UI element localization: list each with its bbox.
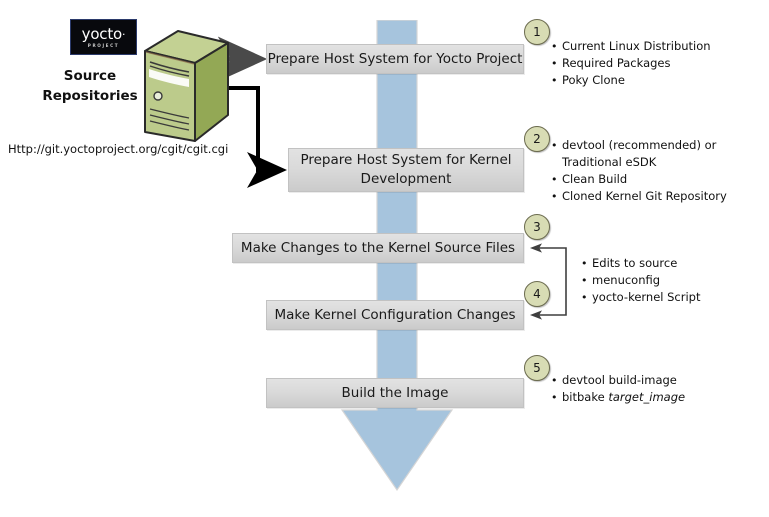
bullet-item: menuconfig <box>580 272 760 289</box>
step-number-badge-2: 2 <box>524 126 550 152</box>
bullet-italic-arg: target_image <box>608 390 685 404</box>
step-number-text: 1 <box>533 25 541 39</box>
step-box-label: Make Changes to the Kernel Source Files <box>241 239 515 258</box>
step-1-bullet-list: Current Linux Distribution Required Pack… <box>550 38 760 89</box>
step-box-label: Prepare Host System for Yocto Project <box>268 50 523 69</box>
step-number-badge-1: 1 <box>524 19 550 45</box>
source-label-line1: Source <box>34 66 146 86</box>
step-number-text: 3 <box>533 220 541 234</box>
step-box-label: Make Kernel Configuration Changes <box>274 306 515 325</box>
bullet-item: Required Packages <box>550 55 760 72</box>
bullet-item: Cloned Kernel Git Repository <box>550 188 750 205</box>
source-repository-url[interactable]: Http://git.yoctoproject.org/cgit/cgit.cg… <box>8 142 228 156</box>
step-box-make-kernel-config-changes[interactable]: Make Kernel Configuration Changes <box>266 300 524 330</box>
bullet-item: devtool build-image <box>550 372 750 389</box>
steps-3-4-shared-bullet-list: Edits to source menuconfig yocto-kernel … <box>580 255 760 306</box>
step-2-bullet-list: devtool (recommended) or Traditional eSD… <box>550 137 750 205</box>
step-box-make-changes-kernel-source[interactable]: Make Changes to the Kernel Source Files <box>232 233 524 263</box>
step-number-badge-4: 4 <box>524 281 550 307</box>
logo-dot: · <box>122 28 125 41</box>
bullet-text: bitbake <box>562 390 608 404</box>
diagram-canvas: yocto· PROJECT Source Repositories Http:… <box>0 0 769 517</box>
workflow-flow-arrow <box>340 20 460 510</box>
bullet-item: Clean Build <box>550 171 750 188</box>
logo-subtitle: PROJECT <box>88 43 119 49</box>
server-tower-icon <box>131 29 236 149</box>
step-number-badge-3: 3 <box>524 214 550 240</box>
bullet-item: Edits to source <box>580 255 760 272</box>
bullet-item: yocto-kernel Script <box>580 289 760 306</box>
bullet-item: Current Linux Distribution <box>550 38 760 55</box>
step-number-badge-5: 5 <box>524 355 550 381</box>
step-box-build-the-image[interactable]: Build the Image <box>266 378 524 408</box>
source-label-line2: Repositories <box>34 86 146 106</box>
step-number-text: 2 <box>533 132 541 146</box>
yocto-project-logo: yocto· PROJECT <box>70 19 137 55</box>
bullet-item: bitbake target_image <box>550 389 750 406</box>
bullet-item: Poky Clone <box>550 72 760 89</box>
step-number-text: 4 <box>533 287 541 301</box>
step-box-prepare-host-yocto[interactable]: Prepare Host System for Yocto Project <box>266 44 524 74</box>
logo-wordmark: yocto· <box>82 27 126 42</box>
step-box-label: Build the Image <box>342 384 449 403</box>
step-box-label: Prepare Host System for Kernel Developme… <box>289 151 523 189</box>
step-5-bullet-list: devtool build-image bitbake target_image <box>550 372 750 406</box>
bullet-item: devtool (recommended) or Traditional eSD… <box>550 137 750 171</box>
step-number-text: 5 <box>533 361 541 375</box>
source-repositories-label: Source Repositories <box>34 66 146 106</box>
step-box-prepare-host-kernel[interactable]: Prepare Host System for Kernel Developme… <box>288 148 524 192</box>
